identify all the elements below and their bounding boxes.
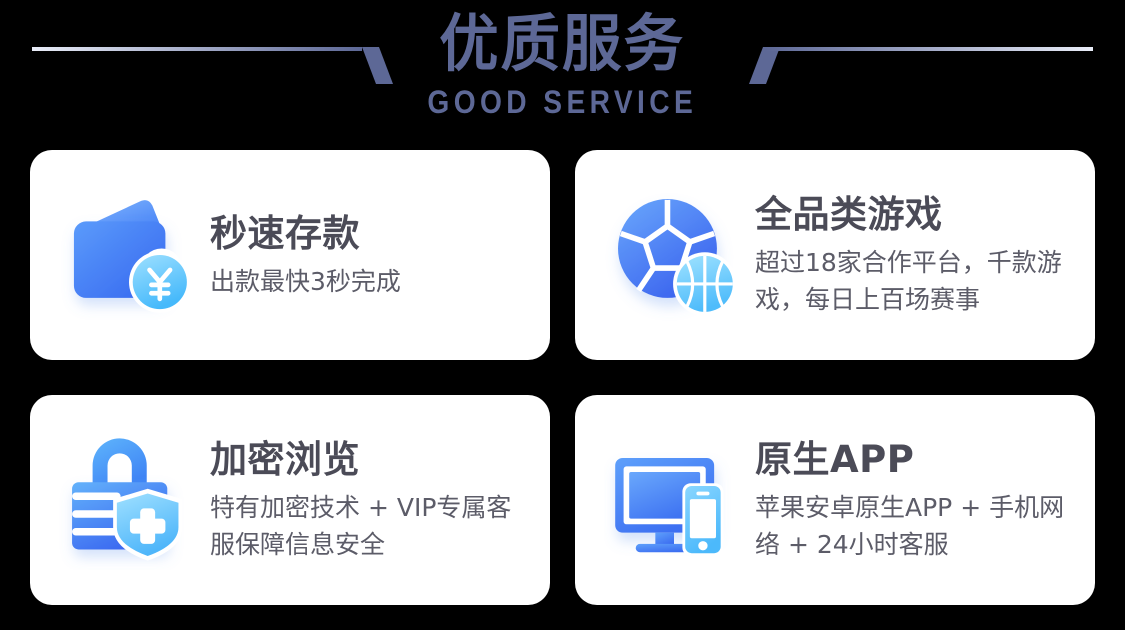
lock-shield-icon (54, 425, 204, 575)
page-header: 优质服务 GOOD SERVICE (0, 0, 1125, 150)
feature-card-title: 秒速存款 (210, 211, 532, 257)
page-subtitle: GOOD SERVICE (428, 84, 698, 120)
feature-card-description: 特有加密技术 + VIP专属客服保障信息安全 (210, 489, 532, 563)
feature-card-description: 超过18家合作平台，千款游戏，每日上百场赛事 (755, 244, 1077, 318)
feature-card[interactable]: 原生APP 苹果安卓原生APP + 手机网络 + 24小时客服 (575, 395, 1095, 605)
feature-card-grid: 秒速存款 出款最快3秒完成 (30, 150, 1095, 605)
feature-card[interactable]: 秒速存款 出款最快3秒完成 (30, 150, 550, 360)
feature-card-title: 全品类游戏 (755, 192, 1077, 238)
soccer-basketball-icon (599, 180, 749, 330)
wallet-yen-icon (54, 180, 204, 330)
feature-card-description: 苹果安卓原生APP + 手机网络 + 24小时客服 (755, 489, 1077, 563)
feature-card[interactable]: 加密浏览 特有加密技术 + VIP专属客服保障信息安全 (30, 395, 550, 605)
feature-card-text: 原生APP 苹果安卓原生APP + 手机网络 + 24小时客服 (749, 437, 1077, 563)
feature-card-title: 原生APP (755, 437, 1077, 483)
page-title: 优质服务 (440, 6, 686, 82)
monitor-phone-icon (599, 425, 749, 575)
feature-card[interactable]: 全品类游戏 超过18家合作平台，千款游戏，每日上百场赛事 (575, 150, 1095, 360)
feature-card-text: 加密浏览 特有加密技术 + VIP专属客服保障信息安全 (204, 437, 532, 563)
feature-card-text: 秒速存款 出款最快3秒完成 (204, 211, 532, 300)
feature-card-title: 加密浏览 (210, 437, 532, 483)
feature-card-description: 出款最快3秒完成 (210, 263, 510, 300)
feature-card-text: 全品类游戏 超过18家合作平台，千款游戏，每日上百场赛事 (749, 192, 1077, 318)
